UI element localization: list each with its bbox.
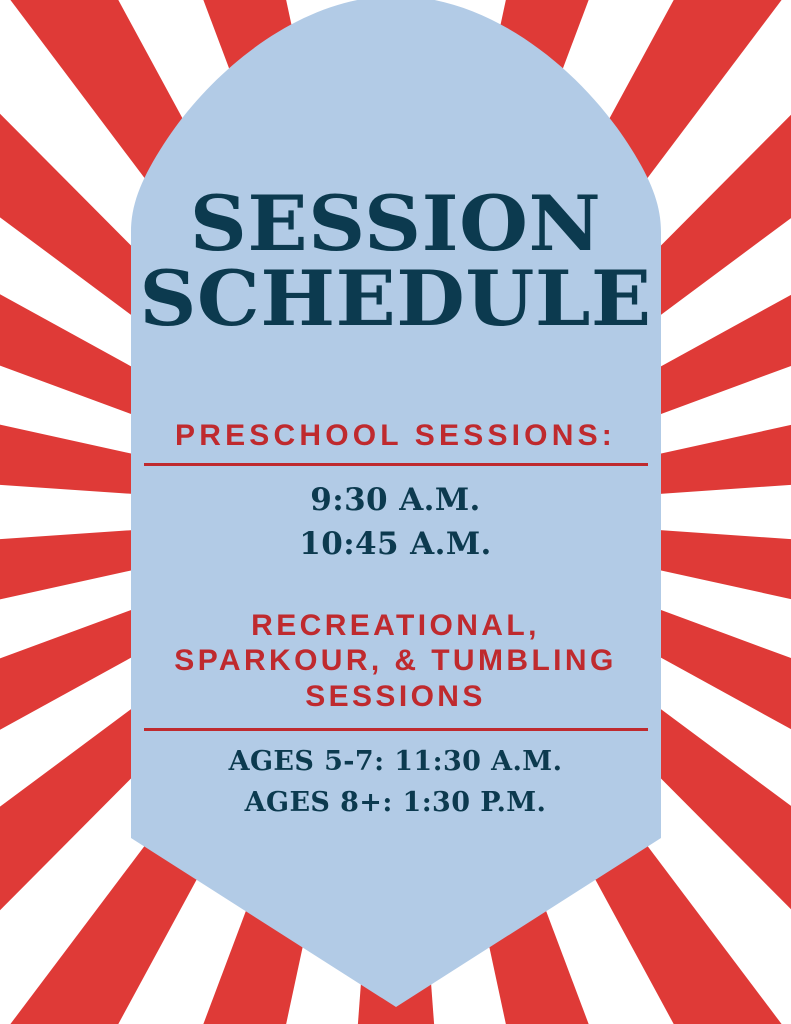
recreational-time-2: AGES 8+: 1:30 P.M.	[0, 783, 791, 824]
recreational-times-list: AGES 5-7: 11:30 A.M. AGES 8+: 1:30 P.M.	[0, 742, 791, 823]
recreational-heading-line-3: SESSIONS	[305, 680, 486, 713]
recreational-sessions-heading: RECREATIONAL, SPARKOUR, & TUMBLING SESSI…	[0, 608, 791, 714]
preschool-times-list: 9:30 A.M. 10:45 A.M.	[0, 478, 791, 566]
preschool-sessions-heading: PRESCHOOL SESSIONS:	[0, 418, 791, 453]
recreational-divider	[144, 728, 648, 731]
recreational-heading-line-2: SPARKOUR, & TUMBLING	[174, 644, 616, 677]
preschool-time-2: 10:45 A.M.	[0, 522, 791, 566]
recreational-time-1: AGES 5-7: 11:30 A.M.	[0, 742, 791, 783]
preschool-time-1: 9:30 A.M.	[0, 478, 791, 522]
title-line-2: SCHEDULE	[0, 261, 791, 336]
recreational-heading-line-1: RECREATIONAL,	[251, 609, 540, 642]
poster-content: SESSION SCHEDULE PRESCHOOL SESSIONS: 9:3…	[0, 0, 791, 1024]
recreational-sessions-section: RECREATIONAL, SPARKOUR, & TUMBLING SESSI…	[0, 608, 791, 823]
title-line-1: SESSION	[0, 186, 791, 261]
preschool-sessions-section: PRESCHOOL SESSIONS: 9:30 A.M. 10:45 A.M.	[0, 418, 791, 566]
session-schedule-poster: SESSION SCHEDULE PRESCHOOL SESSIONS: 9:3…	[0, 0, 791, 1024]
preschool-heading-line-1: PRESCHOOL SESSIONS:	[175, 419, 616, 452]
preschool-divider	[144, 463, 648, 466]
page-title: SESSION SCHEDULE	[0, 186, 791, 336]
